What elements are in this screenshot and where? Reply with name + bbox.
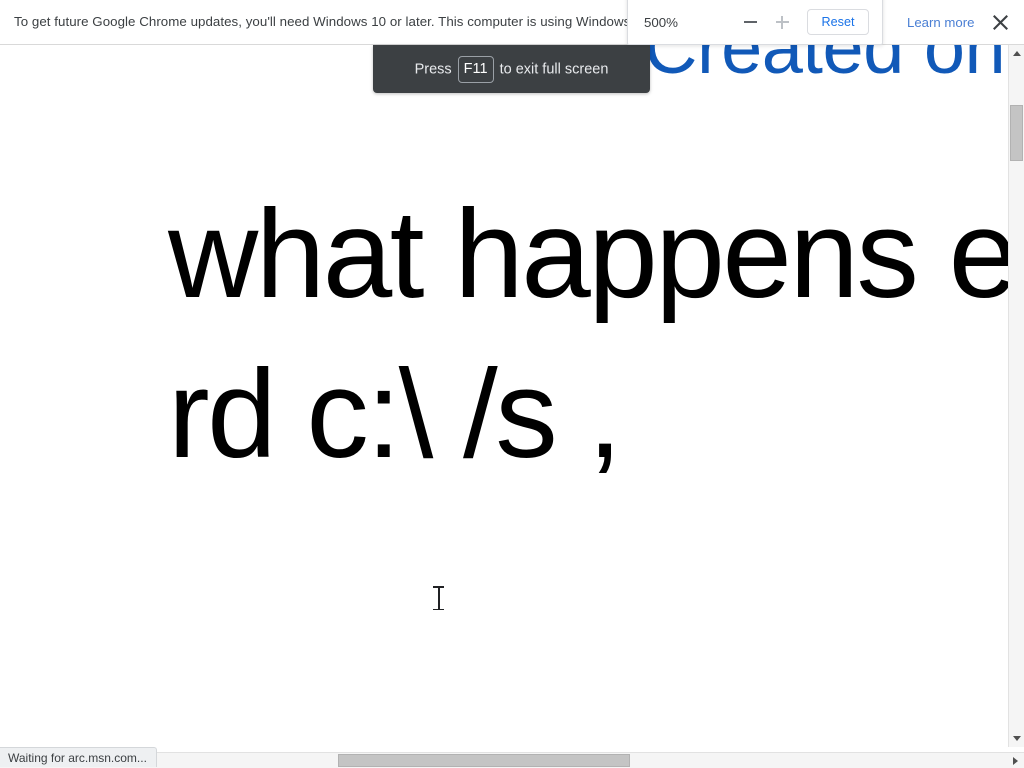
- vertical-scrollbar[interactable]: [1008, 45, 1024, 747]
- zoom-level-value: 500%: [644, 15, 678, 30]
- status-bubble: Waiting for arc.msn.com...: [0, 747, 157, 767]
- scroll-up-button[interactable]: [1009, 45, 1024, 62]
- learn-more-link[interactable]: Learn more: [907, 15, 974, 30]
- zoom-reset-button[interactable]: Reset: [807, 9, 869, 35]
- status-text: Waiting for arc.msn.com...: [8, 751, 147, 765]
- close-icon[interactable]: [991, 13, 1010, 32]
- fullscreen-notice-prefix: Press: [415, 61, 452, 77]
- web-page-content: Created on what happens enter rd c:\ /s …: [0, 45, 1008, 747]
- scroll-right-arrow-icon: [1013, 757, 1018, 765]
- vertical-scrollbar-thumb[interactable]: [1010, 105, 1023, 161]
- page-headline: what happens enter rd c:\ /s ,: [168, 175, 1008, 495]
- fullscreen-exit-notification: PressF11to exit full screen: [373, 45, 650, 93]
- scroll-right-button[interactable]: [1007, 753, 1024, 768]
- horizontal-scrollbar-thumb[interactable]: [338, 754, 630, 767]
- infobar-message: To get future Google Chrome updates, you…: [14, 14, 645, 29]
- scroll-down-button[interactable]: [1009, 730, 1024, 747]
- page-heading-blue: Created on: [644, 45, 1005, 87]
- zoom-out-icon[interactable]: [736, 8, 764, 36]
- scroll-down-arrow-icon: [1013, 736, 1021, 741]
- text-cursor-icon: [433, 586, 444, 610]
- scroll-up-arrow-icon: [1013, 51, 1021, 56]
- fullscreen-key-badge: F11: [458, 56, 494, 83]
- zoom-in-icon[interactable]: [768, 8, 796, 36]
- fullscreen-notice-text: PressF11to exit full screen: [415, 56, 609, 83]
- browser-fullscreen-window: Created on what happens enter rd c:\ /s …: [0, 0, 1024, 768]
- fullscreen-notice-suffix: to exit full screen: [500, 61, 609, 77]
- page-subline: ich wirklich alle something: [168, 735, 1008, 747]
- zoom-popup: 500% Reset: [627, 0, 883, 45]
